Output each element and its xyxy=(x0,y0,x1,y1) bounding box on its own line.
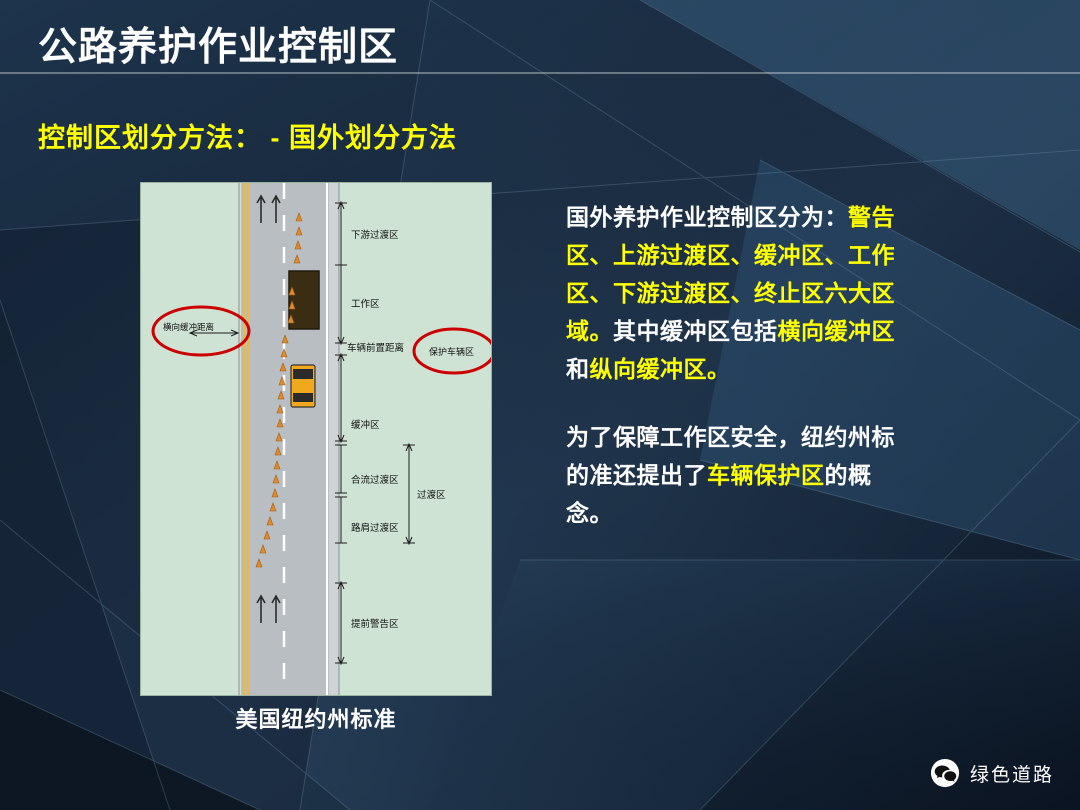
watermark-label: 绿色道路 xyxy=(970,760,1054,787)
body-text: 国外养护作业控制区分为：警告区、上游过渡区、缓冲区、工作区、下游过渡区、终止区六… xyxy=(566,198,916,532)
figure-label-protection-vehicle: 保护车辆区 xyxy=(429,346,474,357)
p2-yellow: 车辆保护区 xyxy=(707,462,825,488)
figure-label-shoulder-taper: 路肩过渡区 xyxy=(351,522,399,534)
p1-white-b: 其中缓冲区包括 xyxy=(613,318,778,344)
p1-yellow-c: 纵向缓冲区。 xyxy=(590,356,731,382)
watermark: 绿色道路 xyxy=(930,758,1054,788)
figure-label-downstream-taper: 下游过渡区 xyxy=(351,229,399,241)
figure-label-buffer: 缓冲区 xyxy=(351,419,380,431)
figure-label-advance-warning: 提前警告区 xyxy=(351,618,399,630)
p1-white-a: 国外养护作业控制区分为： xyxy=(566,204,848,230)
figure-label-merge-taper: 合流过渡区 xyxy=(351,474,399,486)
figure-caption: 美国纽约州标准 xyxy=(140,702,492,734)
title-divider xyxy=(0,72,1080,74)
paragraph-2: 为了保障工作区安全，纽约州标的准还提出了车辆保护区的概念。 xyxy=(566,418,916,532)
figure-label-transition: 过渡区 xyxy=(417,489,446,501)
figure-label-lateral-buffer: 横向缓冲距离 xyxy=(163,322,214,332)
p1-white-c: 和 xyxy=(566,356,590,382)
paragraph-1: 国外养护作业控制区分为：警告区、上游过渡区、缓冲区、工作区、下游过渡区、终止区六… xyxy=(566,198,916,388)
p1-yellow-b: 横向缓冲区 xyxy=(778,318,896,344)
figure-label-vehicle-lead-distance: 车辆前置距离 xyxy=(347,342,404,354)
page-title: 公路养护作业控制区 xyxy=(38,16,398,72)
work-zone-diagram: 下游过渡区 工作区 车辆前置距离 缓冲区 合流过渡区 路肩过渡区 过渡区 提前警… xyxy=(140,182,492,696)
section-subtitle: 控制区划分方法： - 国外划分方法 xyxy=(38,116,457,155)
figure-label-work-area: 工作区 xyxy=(351,298,380,310)
wechat-logo-icon xyxy=(930,758,960,788)
